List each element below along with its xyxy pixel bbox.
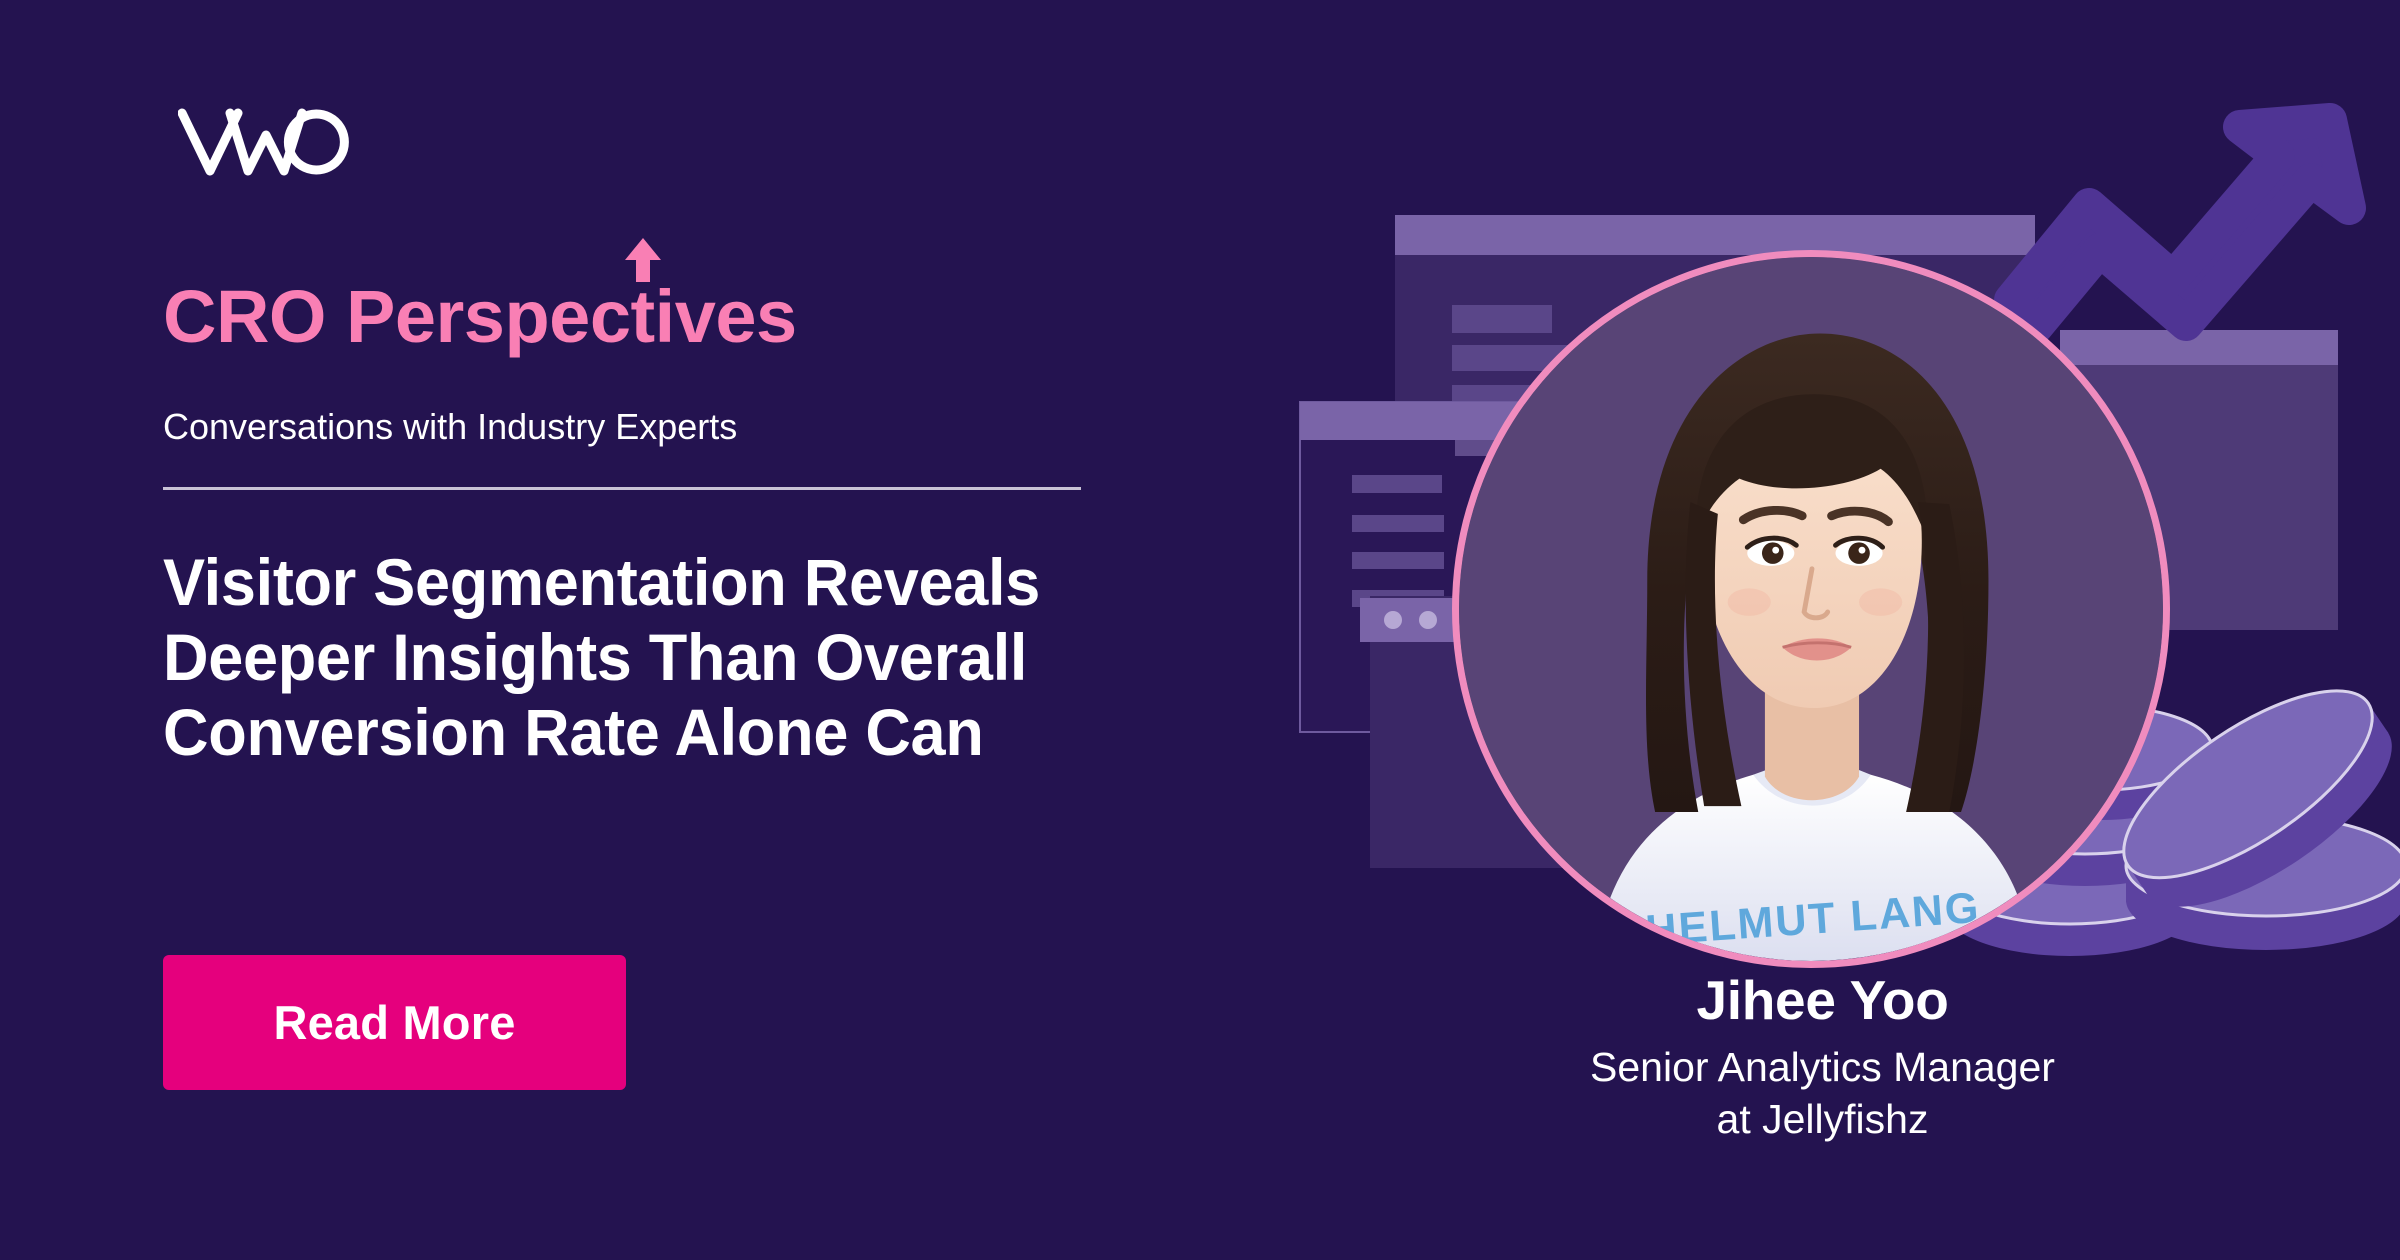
speaker-role-line-2: at Jellyfishz — [1455, 1093, 2190, 1145]
vwo-logo-icon — [178, 105, 383, 180]
speaker-name: Jihee Yoo — [1455, 970, 2190, 1031]
series-kicker-pre: CRO Perspec — [163, 275, 630, 358]
series-kicker-arrow-letter: t — [630, 280, 654, 354]
up-arrow-icon — [623, 236, 663, 282]
speaker-role: Senior Analytics Manager at Jellyfishz — [1455, 1041, 2190, 1146]
promo-banner: HELMUT LANG — [0, 0, 2400, 1260]
speaker-role-line-1: Senior Analytics Manager — [1455, 1041, 2190, 1093]
series-subtitle: Conversations with Industry Experts — [163, 405, 737, 448]
divider — [163, 487, 1081, 490]
speaker-photo: HELMUT LANG — [1459, 257, 2163, 961]
page-title: Visitor Segmentation Reveals Deeper Insi… — [163, 545, 1233, 771]
headline-line-3: Conversion Rate Alone Can — [163, 695, 1233, 770]
content-column: CRO Perspectives Conversations with Indu… — [163, 0, 1303, 1260]
speaker-portrait: HELMUT LANG — [1452, 250, 2170, 968]
vwo-logo — [178, 105, 383, 180]
headline-line-2: Deeper Insights Than Overall — [163, 620, 1233, 695]
read-more-button[interactable]: Read More — [163, 955, 626, 1090]
headline-line-1: Visitor Segmentation Reveals — [163, 545, 1233, 620]
speaker-caption: Jihee Yoo Senior Analytics Manager at Je… — [1455, 970, 2190, 1145]
series-kicker-post: ives — [655, 275, 797, 358]
series-kicker: CRO Perspectives — [163, 280, 797, 354]
